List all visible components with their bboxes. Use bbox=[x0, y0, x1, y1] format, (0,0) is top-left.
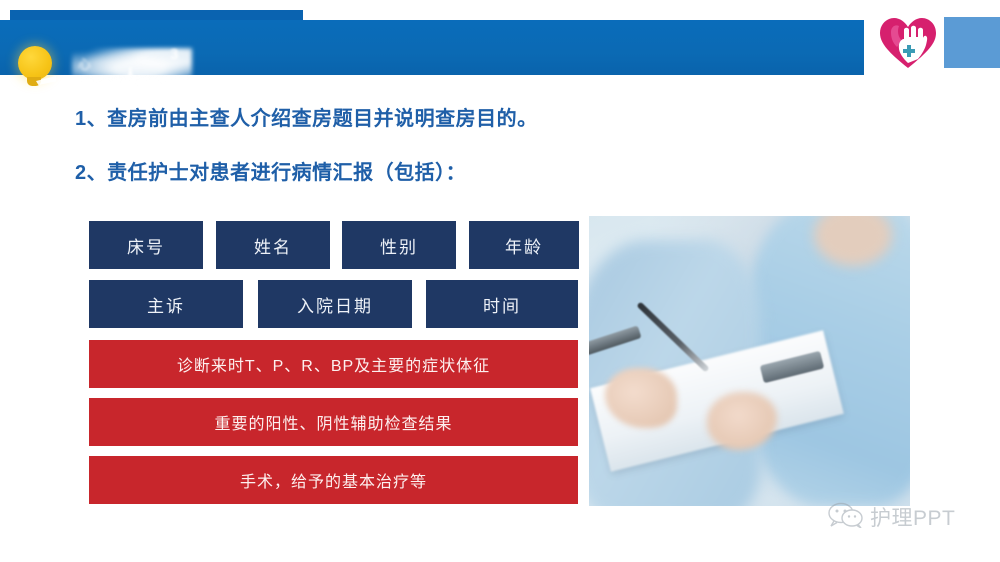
wechat-icon bbox=[828, 502, 864, 533]
header-accent-block bbox=[944, 17, 1000, 68]
watermark-label: 护理PPT bbox=[870, 502, 955, 532]
lightbulb-icon bbox=[18, 46, 52, 80]
red-box-treatment[interactable]: 手术，给予的基本治疗等 bbox=[89, 456, 578, 504]
navy-box-gender[interactable]: 性别 bbox=[342, 221, 456, 269]
brand-logo-watermark: 3 人 心 bbox=[60, 42, 200, 90]
red-box-lab-results[interactable]: 重要的阳性、阴性辅助检查结果 bbox=[89, 398, 578, 446]
navy-box-chief-complaint[interactable]: 主诉 bbox=[89, 280, 243, 328]
nurse-clipboard-photo bbox=[589, 216, 910, 506]
navy-box-age[interactable]: 年龄 bbox=[469, 221, 579, 269]
logo-underline bbox=[74, 82, 182, 86]
slide-canvas: 3 人 心 1、查房前由主查人介绍查房题目并说明查房目的。 2、责任护士对患者进… bbox=[0, 0, 1000, 562]
header-banner: 3 人 心 bbox=[0, 20, 864, 75]
body-line-1: 1、查房前由主查人介绍查房题目并说明查房目的。 bbox=[75, 102, 538, 131]
logo-glyph-1: 3 bbox=[170, 46, 178, 63]
heart-hand-cross-icon bbox=[878, 16, 938, 70]
logo-glyph-3: 心 bbox=[78, 54, 91, 73]
watermark: 护理PPT bbox=[828, 500, 988, 534]
navy-box-admission-date[interactable]: 入院日期 bbox=[258, 280, 412, 328]
navy-box-bed-number[interactable]: 床号 bbox=[89, 221, 203, 269]
navy-box-time[interactable]: 时间 bbox=[426, 280, 578, 328]
navy-box-name[interactable]: 姓名 bbox=[216, 221, 330, 269]
body-line-2: 2、责任护士对患者进行病情汇报（包括）： bbox=[75, 156, 466, 185]
red-box-vitals[interactable]: 诊断来时T、P、R、BP及主要的症状体征 bbox=[89, 340, 578, 388]
